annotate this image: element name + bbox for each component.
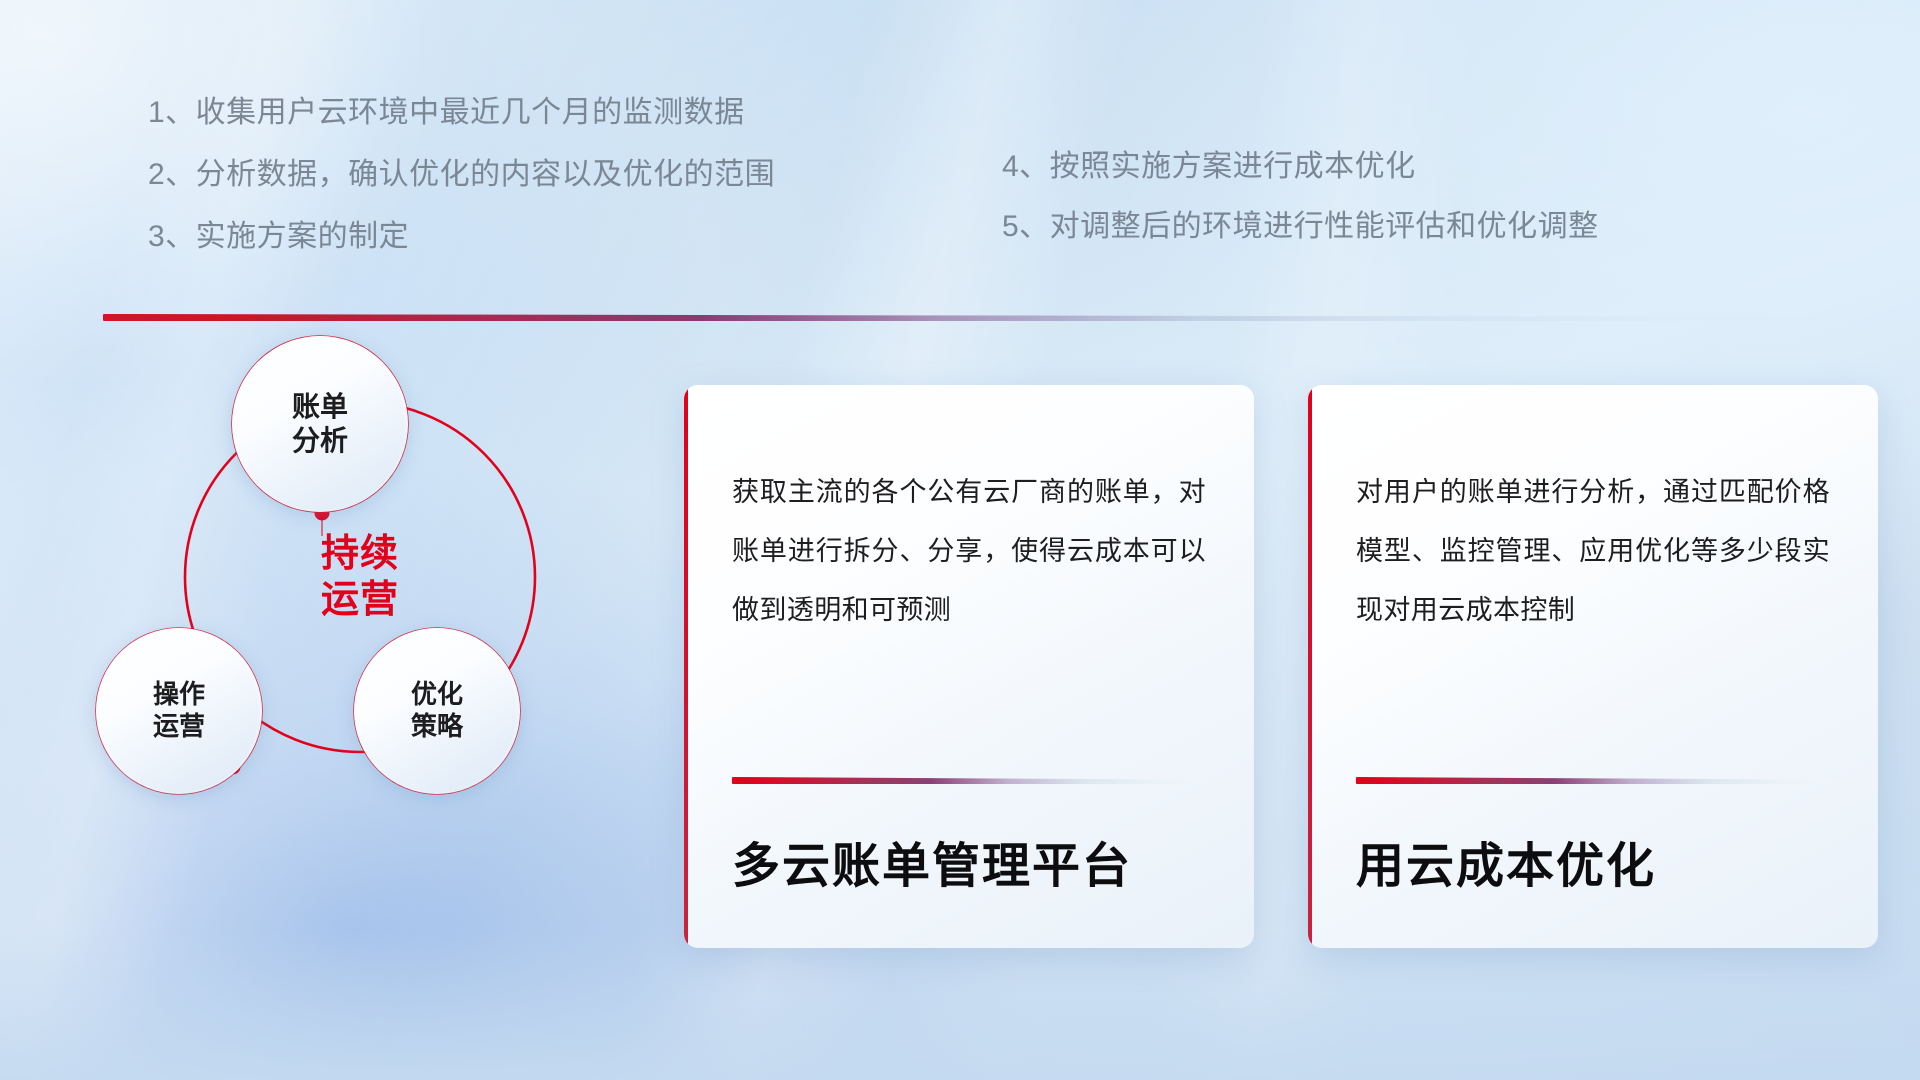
- card-body-text: 获取主流的各个公有云厂商的账单，对账单进行拆分、分享，使得云成本可以做到透明和可…: [732, 463, 1206, 640]
- step-item: 3、实施方案的制定: [148, 222, 775, 252]
- card-cloud-cost-optimization[interactable]: 对用户的账单进行分析，通过匹配价格模型、监控管理、应用优化等多少段实现对用云成本…: [1308, 385, 1878, 948]
- venn-bubble-billing-analysis: 账单 分析: [232, 336, 408, 512]
- card-title: 用云成本优化: [1356, 784, 1830, 948]
- card-divider-rule: [1356, 777, 1830, 784]
- continuous-operations-diagram: 账单 分析 操作 运营 优化 策略 持续 运营: [96, 350, 616, 910]
- bubble-label-line2: 策略: [411, 711, 463, 743]
- feature-cards: 获取主流的各个公有云厂商的账单，对账单进行拆分、分享，使得云成本可以做到透明和可…: [684, 385, 1878, 948]
- bubble-label-line1: 优化: [411, 679, 463, 711]
- divider-gradient-bar: [103, 314, 1859, 321]
- venn-bubble-optimization-strategy: 优化 策略: [354, 628, 520, 794]
- venn-center-label: 持续 运营: [240, 502, 480, 652]
- step-item: 4、按照实施方案进行成本优化: [1002, 152, 1599, 182]
- card-title: 多云账单管理平台: [732, 784, 1206, 948]
- steps-list-right: 4、按照实施方案进行成本优化 5、对调整后的环境进行性能评估和优化调整: [1002, 152, 1599, 272]
- card-body-text: 对用户的账单进行分析，通过匹配价格模型、监控管理、应用优化等多少段实现对用云成本…: [1356, 463, 1830, 640]
- card-multicloud-billing-platform[interactable]: 获取主流的各个公有云厂商的账单，对账单进行拆分、分享，使得云成本可以做到透明和可…: [684, 385, 1254, 948]
- steps-list-left: 1、收集用户云环境中最近几个月的监测数据 2、分析数据，确认优化的内容以及优化的…: [148, 98, 775, 284]
- section-divider: [103, 312, 1859, 324]
- step-item: 2、分析数据，确认优化的内容以及优化的范围: [148, 160, 775, 190]
- card-divider-rule: [732, 777, 1206, 784]
- bubble-label-line2: 分析: [292, 424, 348, 458]
- step-item: 1、收集用户云环境中最近几个月的监测数据: [148, 98, 775, 128]
- bubble-label-line1: 操作: [153, 679, 205, 711]
- bubble-label-line1: 账单: [292, 390, 348, 424]
- venn-center-line2: 运营: [321, 577, 399, 623]
- step-item: 5、对调整后的环境进行性能评估和优化调整: [1002, 212, 1599, 242]
- venn-center-line1: 持续: [321, 531, 399, 577]
- bubble-label-line2: 运营: [153, 711, 205, 743]
- venn-bubble-operations: 操作 运营: [96, 628, 262, 794]
